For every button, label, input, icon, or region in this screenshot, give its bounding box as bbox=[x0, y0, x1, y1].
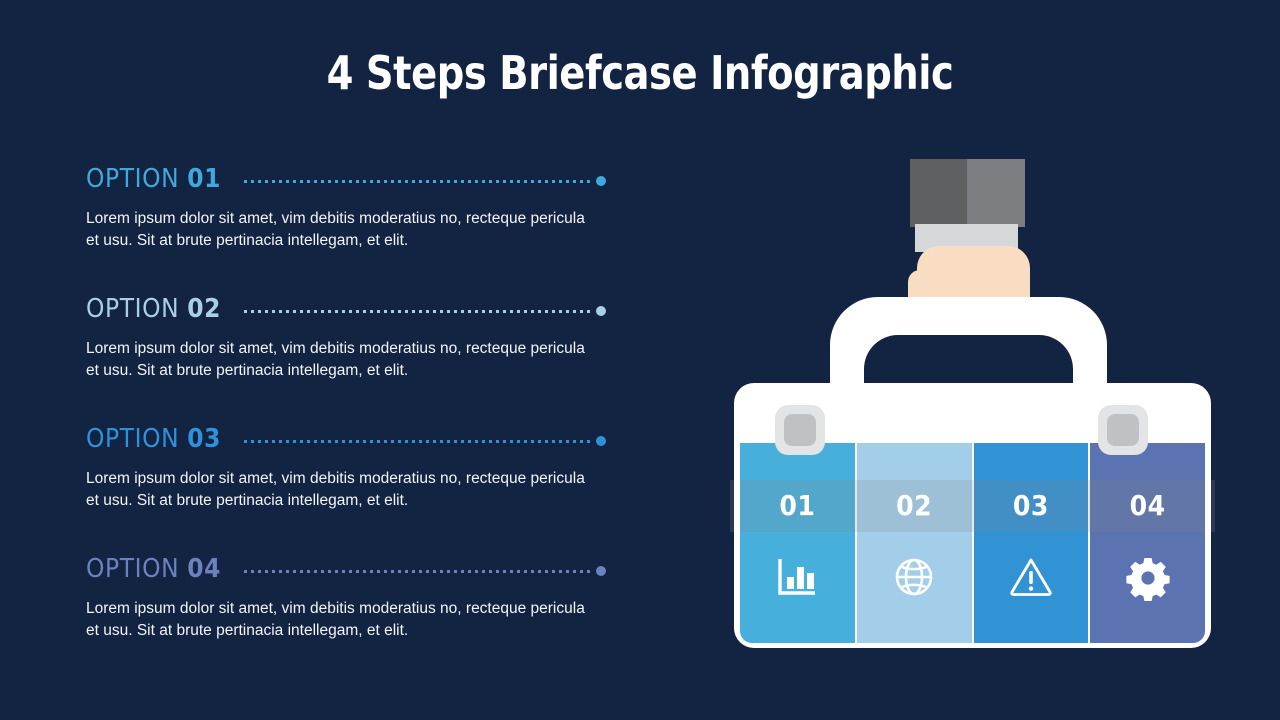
briefcase-segment-02[interactable]: 02 bbox=[857, 443, 972, 643]
option-header-01: OPTION01 bbox=[86, 163, 606, 197]
option-item-02[interactable]: OPTION02 Lorem ipsum dolor sit amet, vim… bbox=[86, 293, 606, 423]
option-endpoint-dot-01 bbox=[596, 176, 606, 186]
option-word-01: OPTION bbox=[86, 164, 179, 194]
option-body-03: Lorem ipsum dolor sit amet, vim debitis … bbox=[86, 468, 591, 512]
gear-center-hole bbox=[1141, 571, 1154, 584]
briefcase-segments: 01 02 bbox=[740, 443, 1205, 643]
warning-triangle-icon bbox=[974, 555, 1089, 599]
option-connector-04 bbox=[244, 570, 592, 573]
option-endpoint-dot-03 bbox=[596, 436, 606, 446]
segment-number-02: 02 bbox=[857, 489, 972, 522]
gear-icon bbox=[1090, 555, 1205, 601]
segment-number-04: 04 bbox=[1090, 489, 1205, 522]
briefcase-segment-04[interactable]: 04 bbox=[1090, 443, 1205, 643]
option-item-01[interactable]: OPTION01 Lorem ipsum dolor sit amet, vim… bbox=[86, 163, 606, 293]
options-list: OPTION01 Lorem ipsum dolor sit amet, vim… bbox=[86, 163, 606, 683]
option-item-04[interactable]: OPTION04 Lorem ipsum dolor sit amet, vim… bbox=[86, 553, 606, 683]
option-connector-02 bbox=[244, 310, 592, 313]
option-number-03: 03 bbox=[187, 424, 221, 454]
option-endpoint-dot-04 bbox=[596, 566, 606, 576]
segment-number-01: 01 bbox=[740, 489, 855, 522]
option-word-03: OPTION bbox=[86, 424, 179, 454]
option-number-04: 04 bbox=[187, 554, 221, 584]
option-endpoint-dot-02 bbox=[596, 306, 606, 316]
option-word-04: OPTION bbox=[86, 554, 179, 584]
option-header-04: OPTION04 bbox=[86, 553, 606, 587]
option-label-03: OPTION03 bbox=[86, 423, 221, 455]
option-number-02: 02 bbox=[187, 294, 221, 324]
page-title: 4 Steps Briefcase Infographic bbox=[45, 46, 1235, 100]
option-label-01: OPTION01 bbox=[86, 163, 221, 195]
option-number-01: 01 bbox=[187, 164, 221, 194]
option-header-02: OPTION02 bbox=[86, 293, 606, 327]
briefcase-latch-left[interactable] bbox=[775, 405, 825, 455]
infographic-canvas: 4 Steps Briefcase Infographic OPTION01 L… bbox=[0, 0, 1280, 720]
option-item-03[interactable]: OPTION03 Lorem ipsum dolor sit amet, vim… bbox=[86, 423, 606, 553]
option-label-02: OPTION02 bbox=[86, 293, 221, 325]
option-connector-03 bbox=[244, 440, 592, 443]
option-label-04: OPTION04 bbox=[86, 553, 221, 585]
option-body-02: Lorem ipsum dolor sit amet, vim debitis … bbox=[86, 338, 591, 382]
briefcase-latch-right[interactable] bbox=[1098, 405, 1148, 455]
option-header-03: OPTION03 bbox=[86, 423, 606, 457]
bar-chart-icon bbox=[740, 555, 855, 599]
briefcase-illustration: 01 02 bbox=[720, 140, 1230, 660]
option-body-04: Lorem ipsum dolor sit amet, vim debitis … bbox=[86, 598, 591, 642]
option-word-02: OPTION bbox=[86, 294, 179, 324]
segment-number-03: 03 bbox=[974, 489, 1089, 522]
option-connector-01 bbox=[244, 180, 592, 183]
sleeve-highlight-shape bbox=[967, 159, 1025, 227]
briefcase-segment-01[interactable]: 01 bbox=[740, 443, 855, 643]
option-body-01: Lorem ipsum dolor sit amet, vim debitis … bbox=[86, 208, 591, 252]
globe-icon bbox=[857, 555, 972, 599]
briefcase-segment-03[interactable]: 03 bbox=[974, 443, 1089, 643]
